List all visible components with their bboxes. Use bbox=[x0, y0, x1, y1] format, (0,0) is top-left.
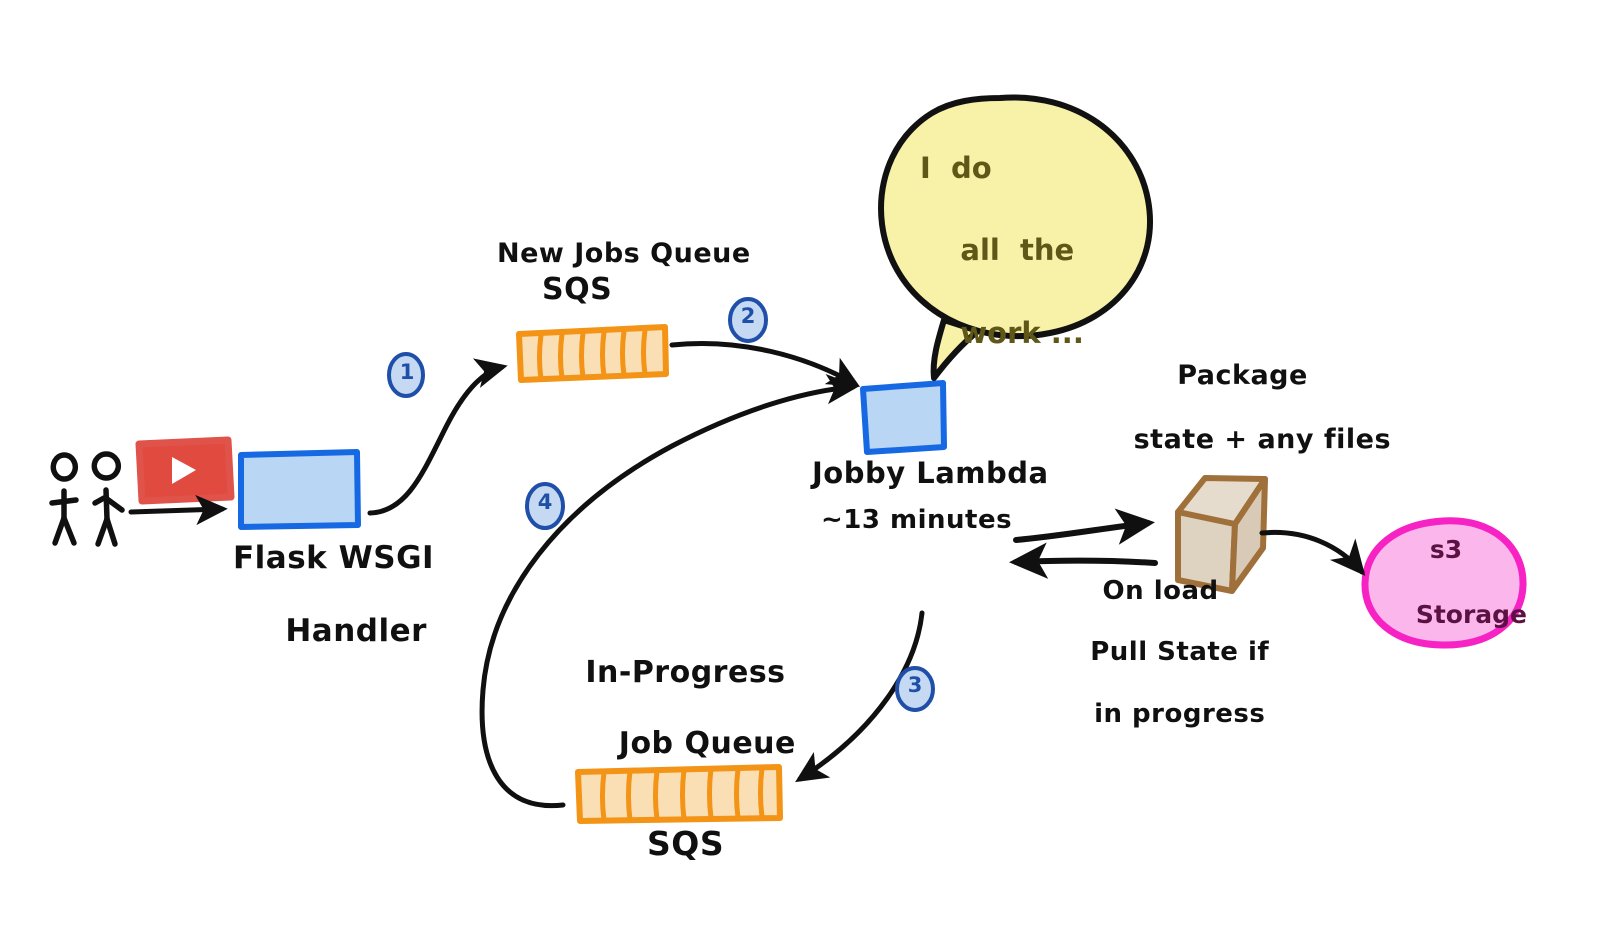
s3-label-line2: Storage bbox=[1416, 600, 1527, 629]
in-progress-queue-label: In-Progress Job Queue bbox=[575, 655, 796, 761]
package-note-line1: Package bbox=[1177, 360, 1308, 391]
arrow-step-1 bbox=[370, 367, 502, 513]
jobby-lambda-label: Jobby Lambda bbox=[812, 456, 1049, 490]
new-jobs-queue-label: New Jobs Queue bbox=[497, 238, 751, 270]
step-number-3: 3 bbox=[898, 673, 932, 697]
new-jobs-queue-box[interactable] bbox=[519, 327, 666, 380]
speech-bubble-text: I do all the work ... bbox=[920, 148, 1084, 354]
jobby-lambda-box[interactable] bbox=[863, 383, 944, 452]
on-load-note-line3: in progress bbox=[1094, 699, 1265, 729]
package-note: Package state + any files bbox=[1094, 360, 1391, 456]
in-progress-label-line1: In-Progress bbox=[585, 655, 785, 690]
arrow-package-to-s3 bbox=[1262, 532, 1362, 572]
jobby-lambda-duration: ~13 minutes bbox=[821, 505, 1012, 536]
speech-line2: all the bbox=[960, 233, 1074, 267]
package-note-line2: state + any files bbox=[1134, 424, 1391, 455]
step-number-4: 4 bbox=[528, 490, 562, 514]
in-progress-queue-sublabel: SQS bbox=[647, 825, 724, 864]
flask-label-line1: Flask WSGI bbox=[233, 540, 434, 576]
package-3d-box[interactable] bbox=[1178, 478, 1265, 591]
on-load-note-line1: On load bbox=[1103, 576, 1219, 606]
s3-storage-label: s3 Storage bbox=[1381, 534, 1511, 632]
two-stick-figures-icon bbox=[52, 454, 122, 544]
flask-wsgi-label: Flask WSGI Handler bbox=[233, 540, 434, 650]
arrow-users-to-flask bbox=[131, 509, 222, 512]
diagram-canvas: New Jobs Queue SQS Flask WSGI Handler Jo… bbox=[0, 0, 1600, 943]
arrow-lambda-to-package bbox=[1016, 523, 1148, 540]
flask-wsgi-box[interactable] bbox=[241, 452, 358, 527]
on-load-note-line2: Pull State if bbox=[1090, 637, 1269, 667]
in-progress-queue-box[interactable] bbox=[578, 767, 780, 821]
in-progress-label-line2: Job Queue bbox=[619, 726, 796, 761]
arrow-package-to-lambda bbox=[1016, 561, 1155, 563]
flask-label-line2: Handler bbox=[285, 613, 427, 649]
red-play-button-icon bbox=[139, 440, 231, 501]
speech-line1: I do bbox=[920, 151, 992, 185]
s3-label-line1: s3 bbox=[1430, 535, 1462, 564]
diagram-sketch-layer bbox=[0, 0, 1600, 943]
speech-line3: work ... bbox=[960, 316, 1083, 350]
arrow-step-2 bbox=[672, 343, 855, 384]
step-number-2: 2 bbox=[731, 304, 765, 328]
new-jobs-queue-sublabel: SQS bbox=[542, 272, 612, 307]
on-load-note: On load Pull State if in progress bbox=[1052, 576, 1269, 729]
step-number-1: 1 bbox=[390, 360, 424, 384]
